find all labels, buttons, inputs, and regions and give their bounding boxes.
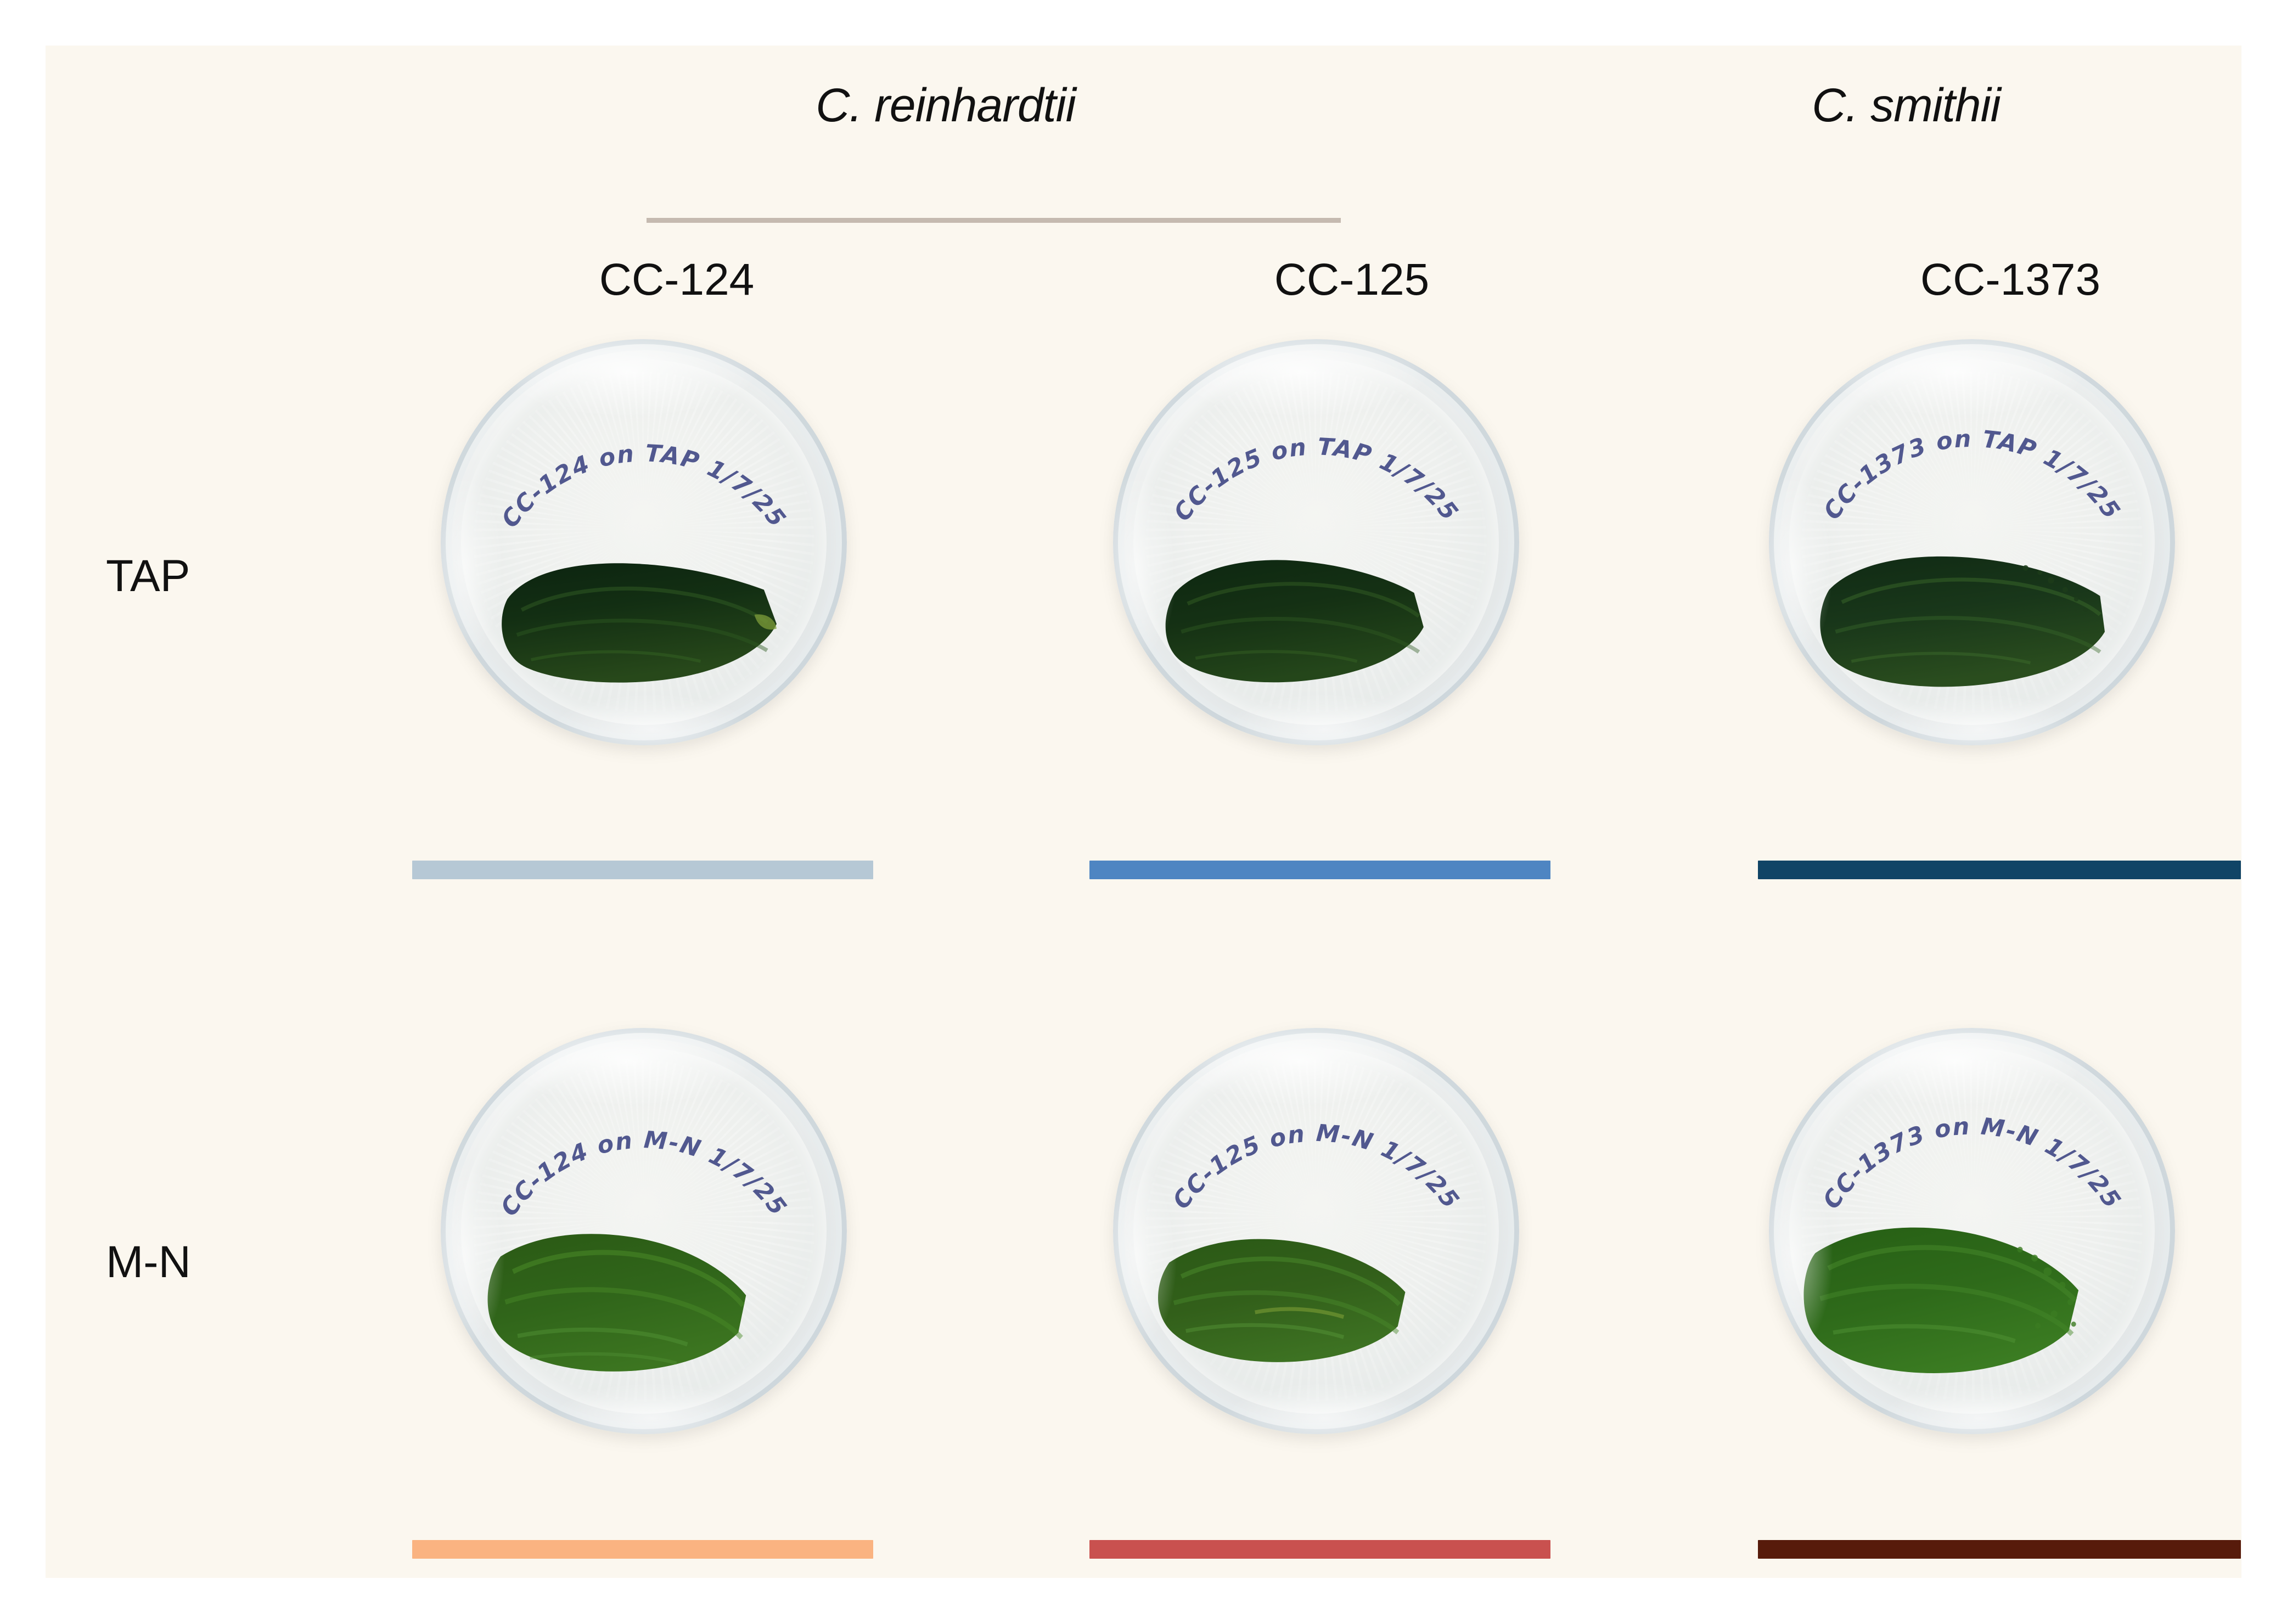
plate-handwriting-text: CC-125 on TAP 1/7/25 — [1168, 433, 1464, 526]
plate-tap-cc-125: CC-125 on TAP 1/7/25 — [1091, 339, 1541, 811]
plate-handwriting-text: CC-124 on TAP 1/7/25 — [496, 440, 791, 533]
petri-dish: CC-124 on M-N 1/7/25 — [441, 1028, 847, 1434]
agar-striations — [473, 372, 814, 713]
species-label-c-reinhardtii: C. reinhardtii — [564, 78, 1327, 133]
agar-striations — [1145, 372, 1487, 713]
color-key-bar-tap-cc-125 — [1089, 861, 1550, 879]
plate-handwriting: CC-125 on M-N 1/7/25 — [1113, 1028, 1519, 1434]
plate-handwriting: CC-125 on TAP 1/7/25 — [1113, 339, 1519, 745]
plate-tap-cc-1373: CC-1373 on TAP 1/7/25 — [1747, 339, 2197, 811]
row-label-mn: M-N — [106, 1237, 342, 1288]
color-key-bar-tap-cc-124 — [412, 861, 873, 879]
plate-mn-cc-124: CC-124 on M-N 1/7/25 — [419, 1028, 869, 1500]
algae-lawn — [1150, 1199, 1451, 1385]
plate-handwriting-text: CC-1373 on M-N 1/7/25 — [1818, 1112, 2127, 1214]
row-label-tap: TAP — [106, 550, 342, 602]
species-group-rule — [647, 218, 1341, 223]
color-key-bar-mn-cc-1373 — [1758, 1540, 2241, 1559]
plate-handwriting: CC-124 on M-N 1/7/25 — [441, 1028, 847, 1434]
plate-mn-cc-1373: CC-1373 on M-N 1/7/25 — [1747, 1028, 2197, 1500]
petri-dish: CC-125 on M-N 1/7/25 — [1113, 1028, 1519, 1434]
column-header-cc-125: CC-125 — [1132, 254, 1571, 306]
plate-handwriting-text: CC-125 on M-N 1/7/25 — [1167, 1120, 1465, 1215]
color-key-bar-mn-cc-124 — [412, 1540, 873, 1559]
plate-handwriting: CC-124 on TAP 1/7/25 — [441, 339, 847, 745]
petri-dish: CC-124 on TAP 1/7/25 — [441, 339, 847, 745]
petri-dish: CC-1373 on M-N 1/7/25 — [1769, 1028, 2175, 1434]
species-label-c-smithii: C. smithii — [1670, 78, 2142, 133]
plate-mn-cc-125: CC-125 on M-N 1/7/25 — [1091, 1028, 1541, 1500]
algae-lawn — [1813, 518, 2130, 705]
plate-handwriting: CC-1373 on TAP 1/7/25 — [1769, 339, 2175, 745]
algae-lawn — [477, 1190, 786, 1393]
petri-dish: CC-125 on TAP 1/7/25 — [1113, 339, 1519, 745]
algae-lawn — [485, 518, 802, 705]
agar-striations — [473, 1060, 814, 1402]
agar-striations — [1145, 1060, 1487, 1402]
species-header: C. reinhardtii C. smithii — [46, 46, 2241, 227]
column-header-cc-1373: CC-1373 — [1791, 254, 2230, 306]
column-header-cc-124: CC-124 — [457, 254, 896, 306]
algae-lawn — [1157, 518, 1474, 705]
petri-dish: CC-1373 on TAP 1/7/25 — [1769, 339, 2175, 745]
figure-panel: C. reinhardtii C. smithii CC-124 CC-125 … — [46, 46, 2241, 1578]
algae-lawn — [1797, 1190, 2122, 1393]
plate-handwriting-text: CC-124 on M-N 1/7/25 — [496, 1126, 793, 1221]
color-key-bar-tap-cc-1373 — [1758, 861, 2241, 879]
agar-striations — [1801, 372, 2143, 713]
plate-handwriting-text: CC-1373 on TAP 1/7/25 — [1818, 425, 2126, 525]
plate-handwriting: CC-1373 on M-N 1/7/25 — [1769, 1028, 2175, 1434]
agar-striations — [1801, 1060, 2143, 1402]
plate-tap-cc-124: CC-124 on TAP 1/7/25 — [419, 339, 869, 811]
color-key-bar-mn-cc-125 — [1089, 1540, 1550, 1559]
